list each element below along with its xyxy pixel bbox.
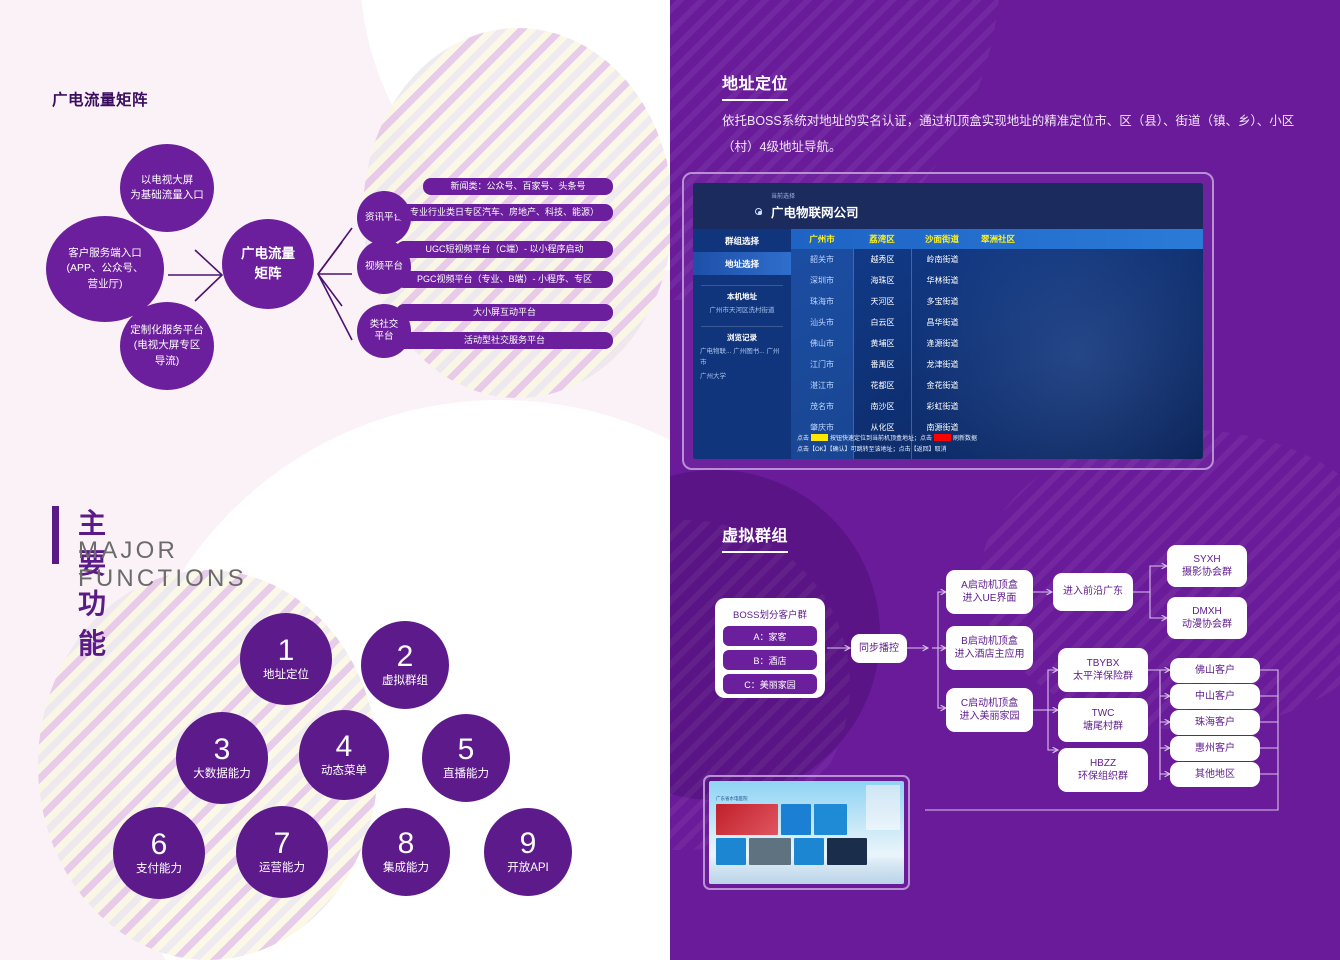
current-selection-value: 广电物联网公司 <box>771 202 859 221</box>
flow-node-group-hbzz: HBZZ 环保组织群 <box>1058 748 1148 792</box>
group-hbzz-code: HBZZ <box>1090 757 1116 771</box>
address-tv-topbar: 当前选择 广电物联网公司 <box>693 183 1203 229</box>
pill-social-1: 大小屏互动平台 <box>396 304 613 321</box>
cell-district-1[interactable]: 越秀区 <box>854 249 911 270</box>
function-bubble-7[interactable]: 7 运营能力 <box>236 806 328 898</box>
history-item-2[interactable]: 广州大学 <box>693 368 791 382</box>
assoc-dmxh-code: DMXH <box>1192 605 1221 619</box>
cell-city-8[interactable]: 茂名市 <box>791 396 853 417</box>
function-bubble-9[interactable]: 9 开放API <box>484 808 572 896</box>
node-category-social-label: 类社交平台 <box>370 319 399 344</box>
sidebar-divider-2 <box>701 326 783 327</box>
flow-node-group-twc: TWC 塘尾村群 <box>1058 698 1148 742</box>
address-tv-sidebar: 群组选择 地址选择 本机地址 广州市天河区洗村街道 浏览记录 广电物联... 广… <box>693 229 791 459</box>
cell-city-2[interactable]: 深圳市 <box>791 270 853 291</box>
cell-district-3[interactable]: 天河区 <box>854 291 911 312</box>
slide-page: 广电流量矩阵 客户服务端入口(APP、公众号、营业厅) 以电视大屏为基础流量入口… <box>0 0 1340 960</box>
boss-card-item-b[interactable]: B：酒店 <box>723 650 817 670</box>
node-tv-screen-entry-label: 以电视大屏为基础流量入口 <box>130 173 204 203</box>
footer-middle: 按钮快速定位到当前机顶盒地址；点击 <box>830 436 932 442</box>
cell-street-3[interactable]: 多宝街道 <box>912 291 973 312</box>
flow-node-branch-a-label: A启动机顶盒进入UE界面 <box>961 579 1018 606</box>
function-bubble-6[interactable]: 6 支付能力 <box>113 807 205 899</box>
function-bubble-4[interactable]: 4 动态菜单 <box>299 710 389 800</box>
address-selection-table: 广州市 荔湾区 沙面街道 翠洲社区 韶关市 深圳市 珠海市 汕头市 佛山市 江门… <box>791 229 1203 459</box>
node-tv-screen-entry: 以电视大屏为基础流量入口 <box>120 144 214 232</box>
function-bubble-2[interactable]: 2 虚拟群组 <box>361 621 449 709</box>
function-bubble-3-label: 大数据能力 <box>193 769 251 781</box>
tv-preview-tile-map[interactable] <box>749 838 791 865</box>
tv-preview-tile-team[interactable] <box>827 838 867 865</box>
address-table-columns: 韶关市 深圳市 珠海市 汕头市 佛山市 江门市 湛江市 茂名市 肇庆市 越秀区 … <box>791 249 1203 459</box>
function-bubble-1[interactable]: 1 地址定位 <box>240 613 332 705</box>
function-bubble-4-number: 4 <box>336 732 353 762</box>
footer-line-1: 点击按钮快速定位到当前机顶盒地址；点击刷新数据 <box>797 434 1197 445</box>
footer-line-2: 点击【OK】【确认】可跳转至该地址；点击【返回】取消 <box>797 445 1197 456</box>
function-bubble-1-number: 1 <box>278 636 295 666</box>
header-street: 沙面街道 <box>911 233 973 245</box>
group-twc-code: TWC <box>1092 707 1115 721</box>
local-address-value: 广州市天河区洗村街道 <box>693 302 791 316</box>
boss-customer-group-card: BOSS划分客户群 A：家客 B：酒店 C：美丽家园 <box>715 598 825 698</box>
heading-accent-bar <box>52 506 59 564</box>
function-bubble-5-number: 5 <box>458 735 475 765</box>
function-bubble-2-label: 虚拟群组 <box>382 676 428 688</box>
cell-street-5[interactable]: 逢源街道 <box>912 333 973 354</box>
left-panel: 广电流量矩阵 客户服务端入口(APP、公众号、营业厅) 以电视大屏为基础流量入口… <box>0 0 670 960</box>
cell-street-4[interactable]: 昌华街道 <box>912 312 973 333</box>
sidebar-item-address-select[interactable]: 地址选择 <box>693 252 791 275</box>
tv-preview-tile-hero[interactable] <box>716 804 778 835</box>
function-bubble-3[interactable]: 3 大数据能力 <box>176 712 268 804</box>
function-bubble-6-number: 6 <box>151 830 168 860</box>
traffic-matrix-diagram: 客户服务端入口(APP、公众号、营业厅) 以电视大屏为基础流量入口 定制化服务平… <box>0 0 670 430</box>
tv-preview-tile-intro[interactable] <box>716 838 746 865</box>
footer-suffix: 刷新数据 <box>953 436 977 442</box>
cell-district-6[interactable]: 番禺区 <box>854 354 911 375</box>
header-city: 广州市 <box>791 233 853 245</box>
pill-video-1: UGC短视频平台（C端）- 以小程序启动 <box>396 241 613 258</box>
pill-news-1: 新闻类：公众号、百家号、头条号 <box>423 178 613 195</box>
flow-node-customer-zhongshan: 中山客户 <box>1170 684 1260 709</box>
function-bubble-8-label: 集成能力 <box>383 863 429 875</box>
flow-node-customer-zhuhai: 珠海客户 <box>1170 710 1260 735</box>
node-customer-entry-label: 客户服务端入口(APP、公众号、营业厅) <box>66 246 143 292</box>
group-tbybx-code: TBYBX <box>1087 657 1120 671</box>
tv-preview-tile-health[interactable] <box>814 804 847 835</box>
address-section-title: 地址定位 <box>722 70 788 101</box>
address-table-header-row: 广州市 荔湾区 沙面街道 翠洲社区 <box>791 229 1203 249</box>
column-district: 越秀区 海珠区 天河区 白云区 黄埔区 番禺区 花都区 南沙区 从化区 <box>853 249 911 459</box>
flow-node-frontier-guangdong: 进入前沿广东 <box>1053 573 1133 611</box>
function-bubble-8-number: 8 <box>398 829 415 859</box>
red-key-swatch <box>934 434 951 441</box>
history-item-1[interactable]: 广电物联... 广州图书... 广州市 <box>693 343 791 368</box>
function-bubble-9-label: 开放API <box>507 863 549 875</box>
cell-city-4[interactable]: 汕头市 <box>791 312 853 333</box>
function-bubble-1-label: 地址定位 <box>263 670 309 682</box>
cell-district-7[interactable]: 花都区 <box>854 375 911 396</box>
cell-street-8[interactable]: 彩虹街道 <box>912 396 973 417</box>
cell-street-1[interactable]: 岭南街道 <box>912 249 973 270</box>
boss-card-item-c[interactable]: C：美丽家园 <box>723 674 817 694</box>
tv-preview-tile-expert[interactable] <box>794 838 824 865</box>
cell-city-3[interactable]: 珠海市 <box>791 291 853 312</box>
address-tv-screen: 当前选择 广电物联网公司 群组选择 地址选择 本机地址 广州市天河区洗村街道 浏… <box>693 183 1203 459</box>
cell-street-2[interactable]: 华林街道 <box>912 270 973 291</box>
function-bubble-7-number: 7 <box>274 829 291 859</box>
function-bubble-2-number: 2 <box>397 642 414 672</box>
pill-news-2: 专业行业类日专区汽车、房地产、科技、能源） <box>396 204 613 221</box>
flow-node-sync-control: 同步播控 <box>851 634 907 663</box>
cell-city-7[interactable]: 湛江市 <box>791 375 853 396</box>
function-bubble-5[interactable]: 5 直播能力 <box>422 714 510 802</box>
node-traffic-matrix-center: 广电流量矩阵 <box>222 219 314 309</box>
tv-preview-label: 广东省水电医院 <box>716 796 748 802</box>
pill-social-2: 活动型社交服务平台 <box>396 332 613 349</box>
column-community <box>973 249 1203 459</box>
group-hbzz-name: 环保组织群 <box>1078 770 1128 784</box>
header-district: 荔湾区 <box>853 233 911 245</box>
cell-street-7[interactable]: 金花街道 <box>912 375 973 396</box>
flow-node-group-tbybx: TBYBX 太平洋保险群 <box>1058 648 1148 692</box>
function-bubble-5-label: 直播能力 <box>443 769 489 781</box>
function-bubble-7-label: 运营能力 <box>259 863 305 875</box>
boss-card-item-a[interactable]: A：家客 <box>723 626 817 646</box>
node-custom-service-platform: 定制化服务平台(电视大屏专区导流) <box>120 302 214 390</box>
footer-prefix: 点击 <box>797 436 809 442</box>
local-address-heading: 本机地址 <box>693 291 791 302</box>
function-bubble-3-number: 3 <box>214 735 231 765</box>
node-custom-service-platform-label: 定制化服务平台(电视大屏专区导流) <box>130 323 204 369</box>
group-tbybx-name: 太平洋保险群 <box>1073 670 1133 684</box>
sidebar-item-group-select[interactable]: 群组选择 <box>693 229 791 252</box>
column-street: 岭南街道 华林街道 多宝街道 昌华街道 逢源街道 龙津街道 金花街道 彩虹街道 … <box>911 249 973 459</box>
flow-node-assoc-dmxh: DMXH 动漫协会群 <box>1167 597 1247 639</box>
assoc-syxh-name: 摄影协会群 <box>1182 566 1232 580</box>
tv-preview-side-panel <box>866 785 900 830</box>
cell-district-4[interactable]: 白云区 <box>854 312 911 333</box>
yellow-key-swatch <box>811 434 828 441</box>
current-selection-label: 当前选择 <box>771 191 795 200</box>
history-heading: 浏览记录 <box>693 332 791 343</box>
assoc-dmxh-name: 动漫协会群 <box>1182 618 1232 632</box>
column-city: 韶关市 深圳市 珠海市 汕头市 佛山市 江门市 湛江市 茂名市 肇庆市 <box>791 249 853 459</box>
address-section-body: 依托BOSS系统对地址的实名认证，通过机顶盒实现地址的精准定位市、区（县）、街道… <box>722 108 1300 161</box>
sidebar-divider-1 <box>701 285 783 286</box>
major-functions-title-en: MAJOR FUNCTIONS <box>78 537 247 593</box>
flow-node-branch-b-label: B启动机顶盒进入酒店主应用 <box>955 635 1025 662</box>
flow-node-branch-c: C启动机顶盒进入美丽家园 <box>946 688 1033 732</box>
pill-video-2: PGC视频平台（专业、B端）- 小程序、专区 <box>396 271 613 288</box>
tv-preview-mockup: 广东省水电医院 <box>703 775 910 890</box>
cell-district-2[interactable]: 海珠区 <box>854 270 911 291</box>
node-category-video-label: 视频平台 <box>365 261 403 273</box>
tv-preview-tile-qr[interactable] <box>781 804 811 835</box>
virtual-group-flowchart: BOSS划分客户群 A：家客 B：酒店 C：美丽家园 同步播控 A启动机顶盒进入… <box>670 510 1340 960</box>
assoc-syxh-code: SYXH <box>1193 553 1220 567</box>
flow-node-customer-other: 其他地区 <box>1170 762 1260 787</box>
group-twc-name: 塘尾村群 <box>1083 720 1123 734</box>
address-tv-footer: 点击按钮快速定位到当前机顶盒地址；点击刷新数据 点击【OK】【确认】可跳转至该地… <box>791 434 1197 455</box>
function-bubble-6-label: 支付能力 <box>136 864 182 876</box>
header-community: 翠洲社区 <box>973 233 1073 245</box>
flow-node-assoc-syxh: SYXH 摄影协会群 <box>1167 545 1247 587</box>
cell-city-5[interactable]: 佛山市 <box>791 333 853 354</box>
function-bubble-4-label: 动态菜单 <box>321 766 367 778</box>
cell-street-6[interactable]: 龙津街道 <box>912 354 973 375</box>
cell-district-5[interactable]: 黄埔区 <box>854 333 911 354</box>
flow-node-customer-foshan: 佛山客户 <box>1170 658 1260 683</box>
node-traffic-matrix-center-label: 广电流量矩阵 <box>241 244 295 283</box>
boss-card-title: BOSS划分客户群 <box>723 607 817 621</box>
flow-node-branch-a: A启动机顶盒进入UE界面 <box>946 570 1033 614</box>
flow-node-customer-huizhou: 惠州客户 <box>1170 736 1260 761</box>
tv-preview-screen: 广东省水电医院 <box>709 781 904 884</box>
cell-city-6[interactable]: 江门市 <box>791 354 853 375</box>
address-tv-mockup: 当前选择 广电物联网公司 群组选择 地址选择 本机地址 广州市天河区洗村街道 浏… <box>682 172 1214 470</box>
flow-node-branch-b: B启动机顶盒进入酒店主应用 <box>946 626 1033 670</box>
radio-selected-icon <box>755 208 762 215</box>
flow-node-branch-c-label: C启动机顶盒进入美丽家园 <box>960 697 1020 724</box>
function-bubble-9-number: 9 <box>520 829 537 859</box>
cell-district-8[interactable]: 南沙区 <box>854 396 911 417</box>
cell-city-1[interactable]: 韶关市 <box>791 249 853 270</box>
function-bubble-8[interactable]: 8 集成能力 <box>362 808 450 896</box>
